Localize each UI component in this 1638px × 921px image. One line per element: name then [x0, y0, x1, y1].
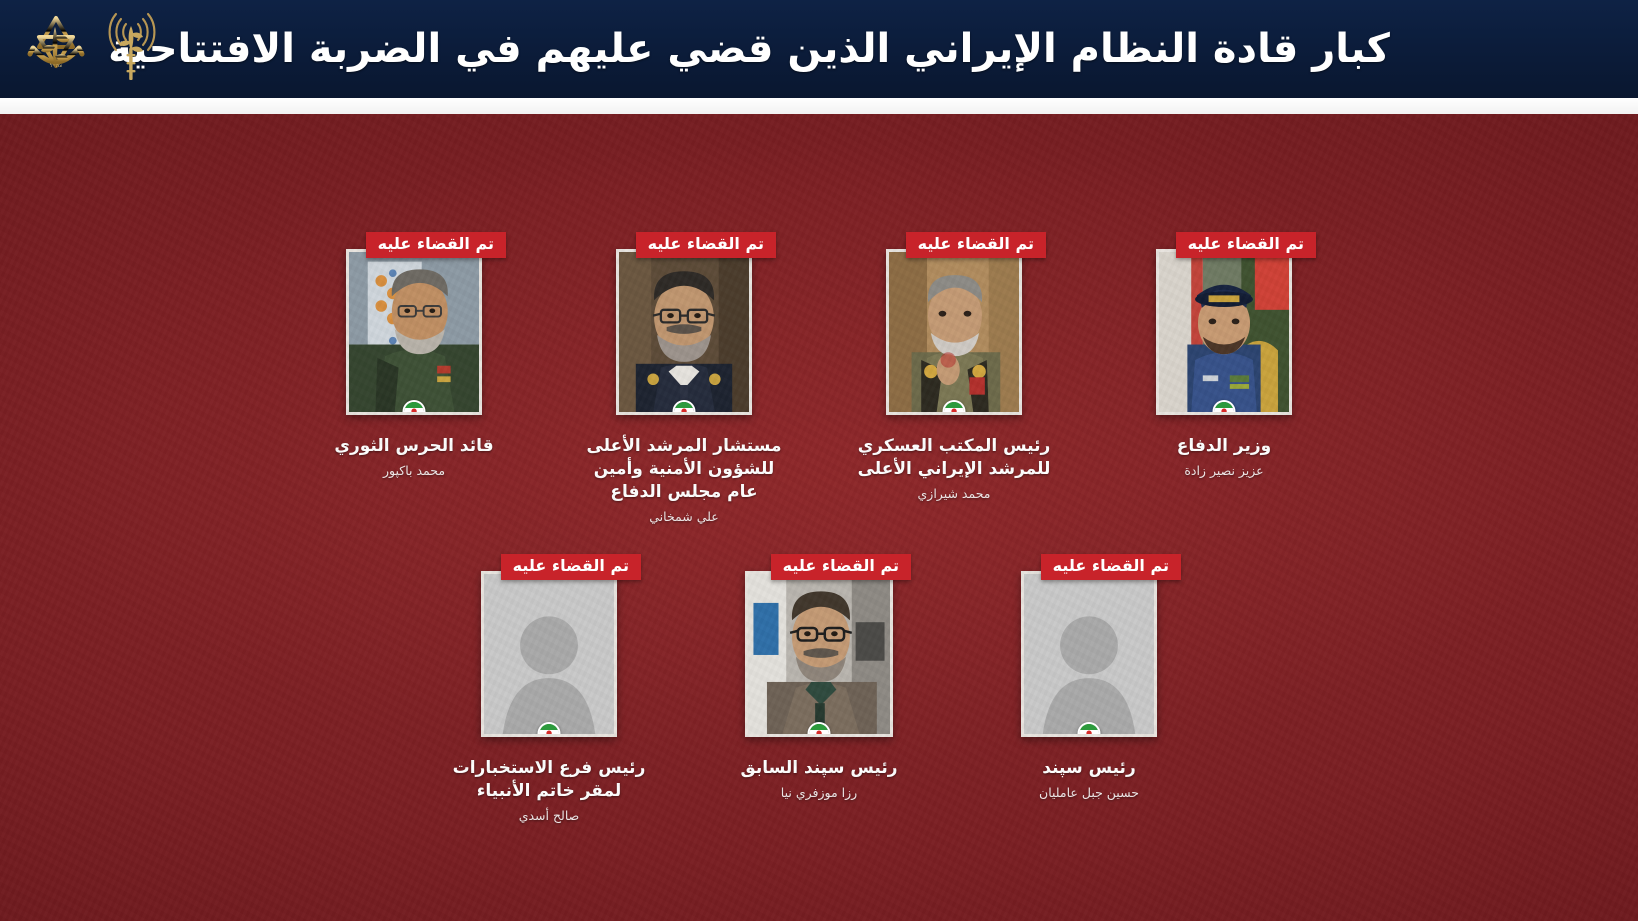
eliminated-badge: تم القضاء عليه	[906, 232, 1046, 258]
card-role-title: وزير الدفاع	[1119, 435, 1329, 458]
portrait-frame: ●	[745, 571, 893, 737]
card-role-title: رئيس سپند	[984, 757, 1194, 780]
leader-card[interactable]: تم القضاء عليه	[604, 232, 764, 525]
eliminated-badge: تم القضاء عليه	[771, 554, 911, 580]
iran-emblem-icon: ●	[546, 730, 553, 736]
card-role-title: رئيس المكتب العسكري للمرشد الإيراني الأع…	[849, 435, 1059, 481]
iran-emblem-icon: ●	[951, 408, 958, 414]
portrait-irgc-commander-photo	[349, 252, 479, 412]
idf-emblem-icon: צה״ל	[18, 9, 94, 89]
header-divider	[0, 98, 1638, 114]
card-person-name: علي شمخاني	[579, 509, 789, 525]
card-person-name: صالح أسدي	[444, 808, 654, 824]
iran-emblem-icon: ●	[411, 408, 418, 414]
card-texts: رئيس المكتب العسكري للمرشد الإيراني الأع…	[849, 435, 1059, 502]
portrait-frame: ●	[886, 249, 1022, 415]
svg-text:צה״ל: צה״ל	[50, 63, 62, 69]
card-texts: رئيس سپند السابق رزا موزفري نيا	[714, 757, 924, 801]
portrait-frame: ●	[1156, 249, 1292, 415]
card-role-title: رئيس فرع الاستخبارات لمقر خاتم الأنبياء	[444, 757, 654, 803]
silhouette-placeholder-photo	[1024, 574, 1154, 734]
leader-card[interactable]: تم القضاء عليه ●	[469, 554, 629, 824]
card-role-title: قائد الحرس الثوري	[309, 435, 519, 458]
eliminated-badge: تم القضاء عليه	[366, 232, 506, 258]
infographic-page: צה״ל كبار قادة النظام الإيراني الذين قضي…	[0, 0, 1638, 921]
page-title: كبار قادة النظام الإيراني الذين قضي عليه…	[0, 24, 1638, 74]
card-person-name: حسين جبل عامليان	[984, 785, 1194, 801]
iran-emblem-icon: ●	[1221, 408, 1228, 414]
card-texts: قائد الحرس الثوري محمد باكپور	[309, 435, 519, 479]
eliminated-badge: تم القضاء عليه	[1176, 232, 1316, 258]
iran-emblem-icon: ●	[1086, 730, 1093, 736]
portrait-civilian-glasses-photo	[748, 574, 890, 734]
card-person-name: رزا موزفري نيا	[714, 785, 924, 801]
portrait-admiral-glasses-photo	[619, 252, 749, 412]
portrait-air-force-officer-photo	[1159, 252, 1289, 412]
card-person-name: محمد شيرازي	[849, 486, 1059, 502]
header-logos: צה״ל	[18, 6, 162, 92]
leader-card[interactable]: تم القضاء عليه	[1144, 232, 1304, 525]
portrait-frame: ●	[481, 571, 617, 737]
radio-waves-icon	[100, 10, 162, 88]
leader-card[interactable]: تم القضاء عليه ●	[1009, 554, 1169, 824]
card-person-name: عزيز نصير زادة	[1119, 463, 1329, 479]
card-texts: مستشار المرشد الأعلى للشؤون الأمنية وأمي…	[579, 435, 789, 525]
card-person-name: محمد باكپور	[309, 463, 519, 479]
card-texts: وزير الدفاع عزيز نصير زادة	[1119, 435, 1329, 479]
cards-row-top: تم القضاء عليه	[0, 232, 1638, 525]
eliminated-badge: تم القضاء عليه	[1041, 554, 1181, 580]
card-texts: رئيس سپند حسين جبل عامليان	[984, 757, 1194, 801]
page-header: צה״ל كبار قادة النظام الإيراني الذين قضي…	[0, 0, 1638, 98]
portrait-frame: ●	[616, 249, 752, 415]
silhouette-placeholder-photo	[484, 574, 614, 734]
portrait-frame: ●	[346, 249, 482, 415]
portrait-army-general-photo	[889, 252, 1019, 412]
leader-card[interactable]: تم القضاء عليه	[874, 232, 1034, 525]
card-role-title: رئيس سپند السابق	[714, 757, 924, 780]
iran-emblem-icon: ●	[816, 730, 823, 736]
leader-card[interactable]: تم القضاء عليه	[739, 554, 899, 824]
eliminated-badge: تم القضاء عليه	[636, 232, 776, 258]
leader-card[interactable]: تم القضاء عليه	[334, 232, 494, 525]
cards-row-bottom: تم القضاء عليه ●	[0, 554, 1638, 824]
iran-emblem-icon: ●	[681, 408, 688, 414]
card-texts: رئيس فرع الاستخبارات لمقر خاتم الأنبياء …	[444, 757, 654, 824]
portrait-frame: ●	[1021, 571, 1157, 737]
eliminated-badge: تم القضاء عليه	[501, 554, 641, 580]
card-role-title: مستشار المرشد الأعلى للشؤون الأمنية وأمي…	[579, 435, 789, 504]
cards-area: تم القضاء عليه	[0, 114, 1638, 921]
